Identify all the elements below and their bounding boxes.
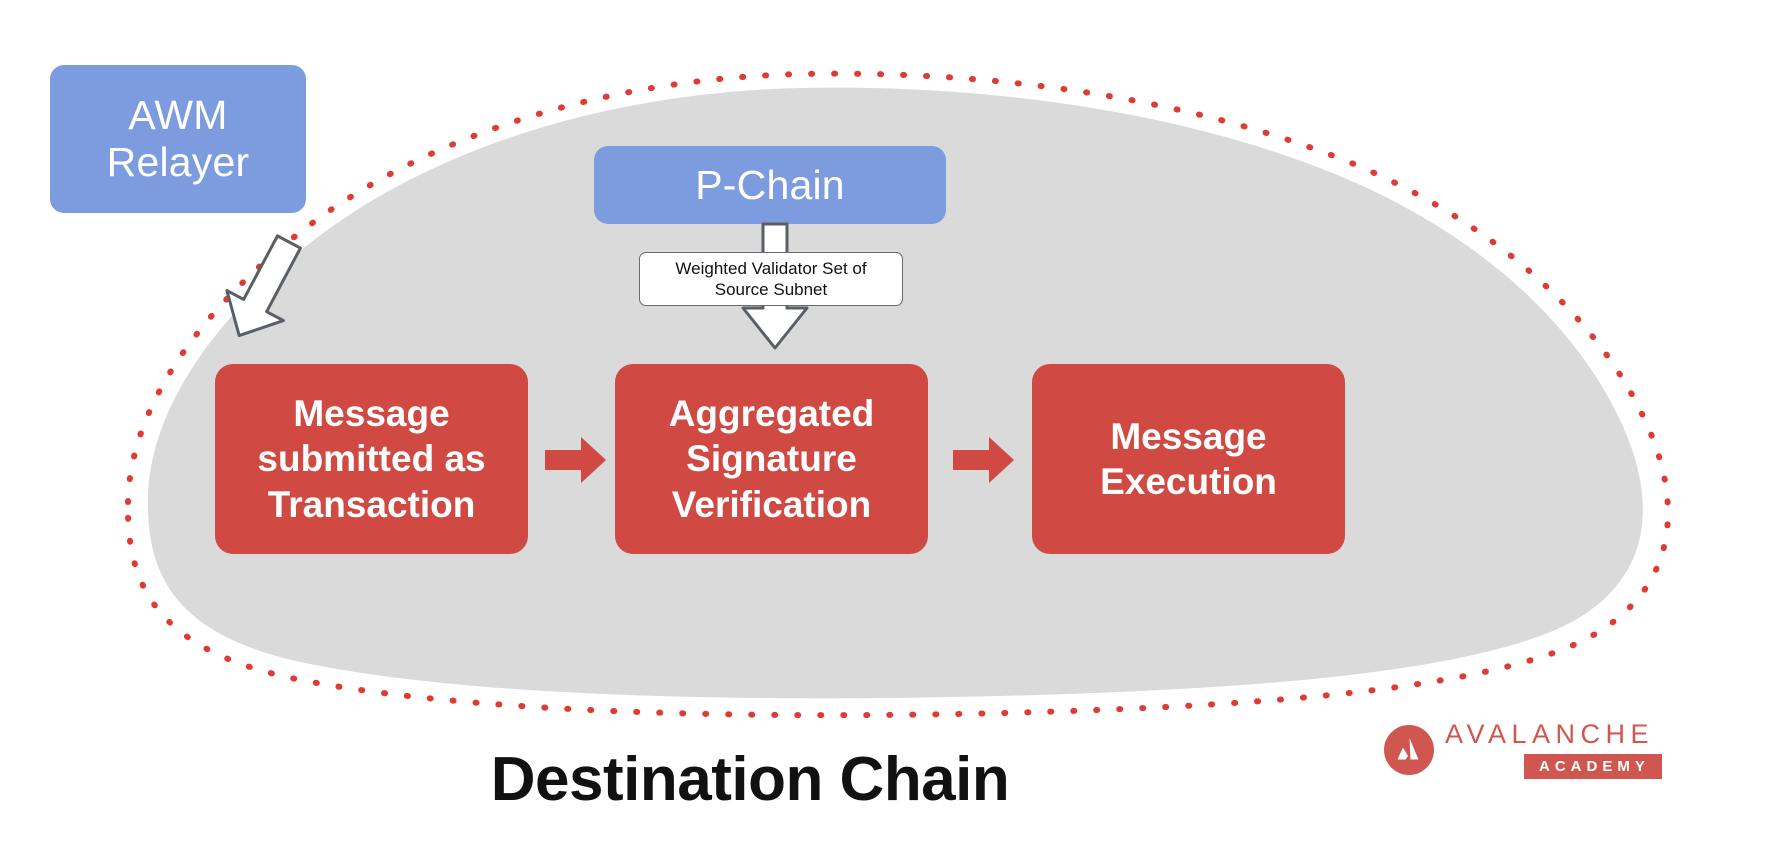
- step-message-submitted-as-transaction: Messagesubmitted asTransaction: [215, 364, 528, 554]
- awm-relayer-node: AWMRelayer: [50, 65, 306, 213]
- step-1-label: Messagesubmitted asTransaction: [257, 391, 485, 526]
- step-aggregated-signature-verification: AggregatedSignatureVerification: [615, 364, 928, 554]
- logo-wordmark: AVALANCHE: [1445, 721, 1654, 748]
- p-chain-node: P-Chain: [594, 146, 946, 224]
- validator-set-text: Weighted Validator Set ofSource Subnet: [675, 258, 866, 301]
- awm-relayer-label: AWMRelayer: [107, 92, 250, 185]
- step-3-label: MessageExecution: [1100, 414, 1277, 504]
- step-2-label: AggregatedSignatureVerification: [669, 391, 875, 526]
- avalanche-triangle-mark-icon: [1384, 725, 1434, 775]
- flow-arrow-right-icon-1: [545, 434, 607, 486]
- logo-academy-badge: ACADEMY: [1524, 754, 1662, 779]
- logo-text-stack: AVALANCHE ACADEMY: [1445, 721, 1662, 779]
- relayer-to-chain-arrow-icon: [200, 222, 330, 352]
- p-chain-label: P-Chain: [695, 162, 845, 209]
- weighted-validator-set-label: Weighted Validator Set ofSource Subnet: [639, 252, 903, 306]
- avalanche-academy-logo: AVALANCHE ACADEMY: [1384, 712, 1659, 788]
- page-title: Destination Chain: [0, 744, 1500, 815]
- diagram-canvas: AWMRelayer P-Chain Weighted Validator Se…: [0, 0, 1792, 848]
- flow-arrow-right-icon-2: [953, 434, 1015, 486]
- step-message-execution: MessageExecution: [1032, 364, 1345, 554]
